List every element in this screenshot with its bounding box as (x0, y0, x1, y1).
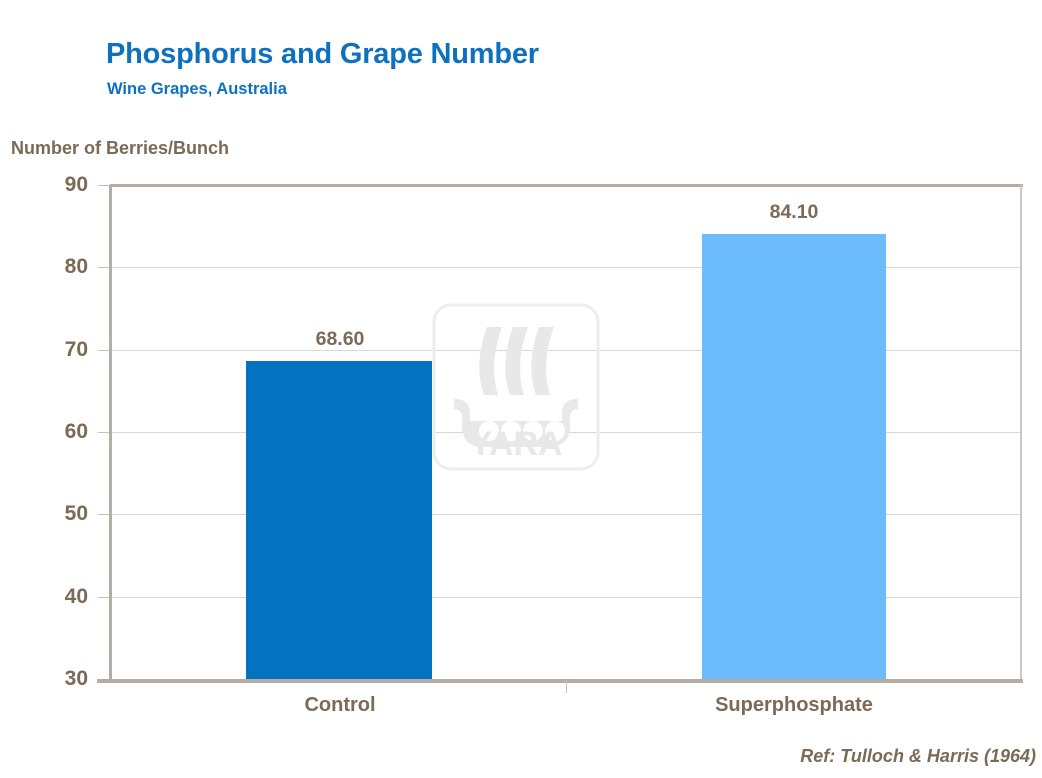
reference-note: Ref: Tulloch & Harris (1964) (800, 746, 1036, 767)
bar-value-label: 68.60 (180, 328, 500, 351)
bar-control[interactable] (246, 361, 432, 679)
x-axis-line (97, 679, 1023, 683)
x-axis-category-label: Superphosphate (634, 694, 954, 717)
x-axis-category-divider (566, 680, 567, 693)
bar-superphosphate[interactable] (702, 234, 886, 679)
bars-layer: 68.6084.10 (0, 0, 1042, 679)
x-axis-category-label: Control (180, 694, 500, 717)
bar-value-label: 84.10 (634, 201, 954, 224)
